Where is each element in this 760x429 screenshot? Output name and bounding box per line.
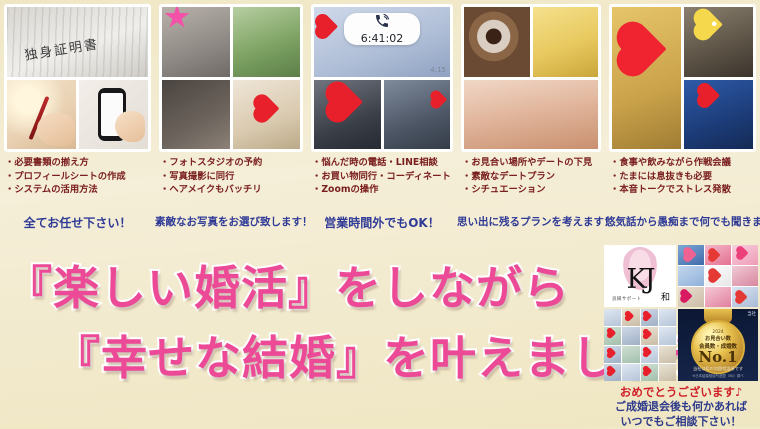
panel-talk-tagline: 悠気話から愚痴まで何でも聞きます！ bbox=[605, 214, 760, 229]
bullet-item: プロフィールシートの作成 bbox=[5, 170, 152, 184]
brand-logo-sub: 良縁サポート bbox=[612, 296, 641, 302]
member-thumb bbox=[659, 327, 676, 344]
heart-sticker-icon bbox=[431, 91, 447, 107]
member-thumb bbox=[604, 327, 621, 344]
certificate-label: 独身証明書 bbox=[23, 33, 100, 64]
photo-blue-outfit bbox=[684, 80, 753, 150]
bullet-item: お買い物同行・コーディネート bbox=[312, 170, 454, 184]
member-thumb bbox=[659, 346, 676, 363]
bullet-item: システムの活用方法 bbox=[5, 183, 152, 197]
member-thumb bbox=[622, 309, 639, 326]
brand-logo-kanji: 和 bbox=[661, 290, 670, 303]
heart-sticker-icon bbox=[608, 348, 616, 356]
photo-shopping-support bbox=[384, 80, 451, 150]
heart-sticker-icon bbox=[709, 269, 722, 282]
hand-shape bbox=[37, 113, 74, 146]
bullet-item: Zoomの操作 bbox=[312, 183, 454, 197]
photo-outdoor-walk bbox=[233, 7, 301, 77]
award-line-1: お見合い数 bbox=[705, 335, 731, 342]
star-sticker-icon bbox=[164, 7, 190, 30]
award-tag: 当社 bbox=[747, 311, 756, 317]
member-thumb bbox=[641, 327, 658, 344]
collage-cell bbox=[705, 287, 731, 307]
bullet-item: たまには息抜きも必要 bbox=[610, 170, 757, 184]
collage-cell bbox=[678, 287, 704, 307]
closing-line-1: おめでとうございます♪ bbox=[604, 385, 758, 400]
panel-support-photos: 6:41:02 4:15 bbox=[311, 4, 453, 152]
photo-hair-makeup bbox=[162, 80, 230, 150]
brand-logo: KJ 良縁サポート 和 bbox=[604, 245, 676, 307]
bullet-item: 本音トークでストレス発散 bbox=[610, 183, 757, 197]
member-thumb bbox=[604, 309, 621, 326]
award-badge: 当社 2024 お見合い数 会員数・成婚数 No.1 当社はKJの加盟相談所です… bbox=[678, 309, 758, 381]
panel-casual-talk: 食事や飲みながら作戦会議 たまには息抜きも必要 本音トークでストレス発散 悠気話… bbox=[605, 0, 760, 243]
panel-documents-tagline: 全てお任せ下さい！ bbox=[0, 214, 155, 231]
award-footnote: 当社はKJの加盟相談所です bbox=[682, 366, 754, 372]
heart-sticker-icon bbox=[626, 312, 634, 320]
closing-line-2: ご成婚退会後も何かあれば bbox=[604, 400, 758, 415]
panel-documents: 独身証明書 必要書類の揃え方 プロフィールシートの作成 システムの活用方法 bbox=[0, 0, 155, 243]
collage-cell bbox=[705, 245, 731, 265]
heart-sticker-icon bbox=[621, 26, 666, 71]
heart-sticker-icon bbox=[643, 330, 651, 338]
panel-date-planning: お見合い場所やデートの下見 素敵なデートプラン シチュエーション 思い出に残るプ… bbox=[457, 0, 605, 243]
member-thumb bbox=[604, 364, 621, 381]
member-thumb bbox=[622, 364, 639, 381]
bullet-item: シチュエーション bbox=[462, 183, 602, 197]
collage-cell bbox=[732, 287, 758, 307]
heart-sticker-icon bbox=[608, 329, 616, 337]
member-thumb bbox=[641, 364, 658, 381]
headline-block: 『楽しい婚活』をしながら 『幸せな結婚』を叶えましょう！ bbox=[0, 246, 610, 427]
photo-call-screen: 6:41:02 4:15 bbox=[314, 7, 450, 77]
award-footnote-2: ※日本結婚相談所連盟（IBJ）調べ bbox=[682, 373, 754, 378]
call-duration: 6:41:02 bbox=[361, 32, 403, 45]
call-card: 6:41:02 bbox=[344, 13, 420, 45]
brand-column: KJ 良縁サポート 和 bbox=[602, 243, 760, 427]
photo-izakaya-man bbox=[684, 7, 753, 77]
panel-support-contact: 6:41:02 4:15 悩んだ時の電話・LINE相談 お買い物同行・コーディネ… bbox=[307, 0, 457, 243]
heart-sticker-icon bbox=[255, 96, 279, 120]
panel-documents-bullets: 必要書類の揃え方 プロフィールシートの作成 システムの活用方法 bbox=[5, 156, 152, 197]
heart-sticker-icon bbox=[684, 248, 697, 261]
member-thumb bbox=[641, 309, 658, 326]
heart-sticker-icon bbox=[643, 367, 651, 375]
bullet-item: 素敵なデートプラン bbox=[462, 170, 602, 184]
panel-support-bullets: 悩んだ時の電話・LINE相談 お買い物同行・コーディネート Zoomの操作 bbox=[312, 156, 454, 197]
photo-writing bbox=[7, 80, 76, 150]
headline-line-1: 『楽しい婚活』をしながら bbox=[6, 252, 570, 318]
member-thumb bbox=[622, 327, 639, 344]
heart-sticker-icon bbox=[696, 11, 723, 38]
member-thumb bbox=[641, 346, 658, 363]
member-thumb bbox=[659, 364, 676, 381]
panel-date-photos bbox=[461, 4, 601, 152]
member-photo-grid bbox=[604, 309, 676, 381]
photo-suit-person bbox=[314, 80, 381, 150]
bullet-item: フォトスタジオの予約 bbox=[160, 156, 304, 170]
bullet-item: ヘアメイクもバッチリ bbox=[160, 183, 304, 197]
panel-photo-studio: フォトスタジオの予約 写真撮影に同行 ヘアメイクもバッチリ 素敵なお写真をお選び… bbox=[155, 0, 307, 243]
panel-talk-bullets: 食事や飲みながら作戦会議 たまには息抜きも必要 本音トークでストレス発散 bbox=[610, 156, 757, 197]
collage-cell bbox=[678, 266, 704, 286]
collage-cell bbox=[705, 266, 731, 286]
photo-sushi-platter bbox=[464, 80, 598, 150]
panel-date-bullets: お見合い場所やデートの下見 素敵なデートプラン シチュエーション bbox=[462, 156, 602, 197]
heart-sticker-icon bbox=[643, 312, 651, 320]
bullet-item: 悩んだ時の電話・LINE相談 bbox=[312, 156, 454, 170]
closing-message: おめでとうございます♪ ご成婚退会後も何かあれば いつでもご相談下さい！ bbox=[602, 381, 760, 429]
brand-row: KJ 良縁サポート 和 bbox=[602, 243, 760, 309]
panel-documents-photos: 独身証明書 bbox=[4, 4, 151, 152]
panel-photo-studio-tagline: 素敵なお写真をお選び致します！ bbox=[155, 214, 307, 229]
heart-sticker-icon bbox=[643, 347, 651, 355]
bullet-item: 写真撮影に同行 bbox=[160, 170, 304, 184]
member-thumb bbox=[659, 309, 676, 326]
collage-cell bbox=[732, 245, 758, 265]
finger-shape bbox=[115, 111, 145, 142]
member-thumb bbox=[622, 346, 639, 363]
award-rank: No.1 bbox=[698, 350, 737, 365]
heart-sticker-icon bbox=[736, 291, 747, 302]
promo-banner: 独身証明書 必要書類の揃え方 プロフィールシートの作成 システムの活用方法 bbox=[0, 0, 760, 427]
panel-date-tagline: 思い出に残るプランを考えます！ bbox=[457, 214, 605, 229]
photo-studio-shoot bbox=[162, 7, 230, 77]
call-timestamp: 4:15 bbox=[430, 66, 446, 74]
panel-talk-photos bbox=[609, 4, 756, 152]
photo-certificate: 独身証明書 bbox=[7, 7, 148, 77]
bullet-item: 必要書類の揃え方 bbox=[5, 156, 152, 170]
photo-smartphone bbox=[79, 80, 148, 150]
panel-photo-studio-bullets: フォトスタジオの予約 写真撮影に同行 ヘアメイクもバッチリ bbox=[160, 156, 304, 197]
collage-cell bbox=[678, 245, 704, 265]
photo-portrait bbox=[233, 80, 301, 150]
service-panels: 独身証明書 必要書類の揃え方 プロフィールシートの作成 システムの活用方法 bbox=[0, 0, 760, 243]
photo-coffee bbox=[464, 7, 530, 77]
heart-sticker-icon bbox=[709, 249, 720, 260]
wedding-collage bbox=[678, 245, 758, 307]
heart-sticker-icon bbox=[608, 367, 616, 375]
panel-photo-studio-photos bbox=[159, 4, 303, 152]
heart-sticker-icon bbox=[737, 247, 748, 258]
heart-sticker-icon bbox=[699, 84, 720, 105]
photo-dining-woman bbox=[612, 7, 681, 149]
bullet-item: お見合い場所やデートの下見 bbox=[462, 156, 602, 170]
phone-call-icon bbox=[371, 13, 393, 29]
panel-support-tagline: 営業時間外でもOK！ bbox=[307, 214, 457, 231]
bullet-item: 食事や飲みながら作戦会議 bbox=[610, 156, 757, 170]
heart-sticker-icon bbox=[317, 16, 338, 37]
heart-sticker-icon bbox=[681, 290, 692, 301]
collage-cell bbox=[732, 266, 758, 286]
photo-lemonade bbox=[533, 7, 599, 77]
member-thumb bbox=[604, 346, 621, 363]
proof-row: 当社 2024 お見合い数 会員数・成婚数 No.1 当社はKJの加盟相談所です… bbox=[602, 309, 760, 381]
heart-sticker-icon bbox=[329, 85, 363, 119]
